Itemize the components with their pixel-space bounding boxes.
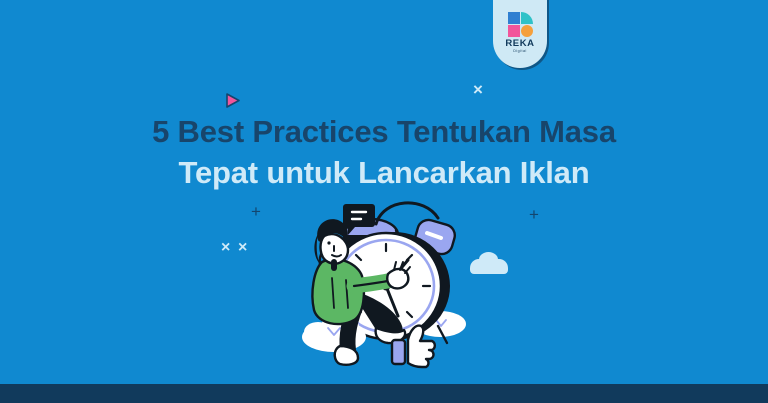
x-mark-icon-left-a: × [221,240,230,256]
hero-illustration [288,200,478,380]
logo-quadrant-bottom-left [508,25,520,37]
plus-mark-icon-right: + [529,206,539,223]
reka-logo-badge[interactable]: REKA Digital [493,0,547,68]
logo-quadrant-top-right [521,12,533,24]
logo-quadrant-top-left [508,12,520,24]
play-triangle-icon [224,92,242,115]
logo-wordmark: REKA [505,39,534,49]
logo-quadrant-bottom-right [521,25,533,37]
article-banner: REKA Digital 5 Best Practices Tentukan M… [0,0,768,403]
logo-subtitle: Digital [513,50,527,54]
illustration-svg [288,200,478,380]
headline-line-1: 5 Best Practices Tentukan Masa [0,112,768,153]
reka-logo-mark-icon [508,12,533,37]
banner-headline: 5 Best Practices Tentukan Masa Tepat unt… [0,112,768,194]
footer-bar [0,384,768,403]
plus-mark-icon-left: + [251,203,261,220]
x-mark-icon-top-right: × [473,81,483,98]
headline-line-2: Tepat untuk Lancarkan Iklan [0,153,768,194]
x-mark-icon-left-b: × [238,240,247,256]
